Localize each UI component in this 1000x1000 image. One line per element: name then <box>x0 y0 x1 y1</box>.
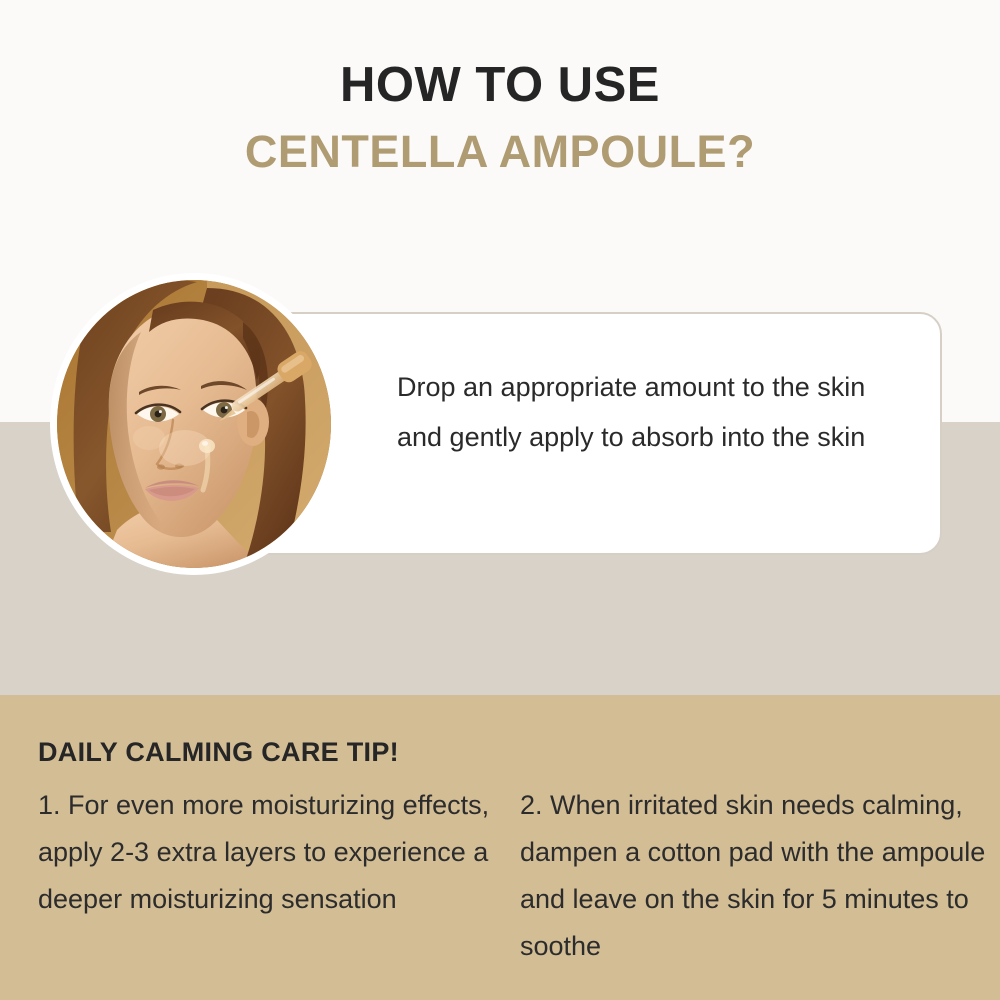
infographic-page: HOW TO USE CENTELLA AMPOULE? Drop an app… <box>0 0 1000 1000</box>
page-title-line-1: HOW TO USE <box>0 56 1000 114</box>
page-title: HOW TO USE CENTELLA AMPOULE? <box>0 56 1000 179</box>
model-photo <box>50 273 338 575</box>
page-title-line-2: CENTELLA AMPOULE? <box>0 125 1000 179</box>
tip-item-1: 1. For even more moisturizing effects, a… <box>38 782 500 923</box>
instruction-text: Drop an appropriate amount to the skin a… <box>397 362 907 462</box>
photo-image <box>57 280 331 568</box>
tips-heading: DAILY CALMING CARE TIP! <box>38 736 399 768</box>
tip-item-2: 2. When irritated skin needs calming, da… <box>520 782 990 970</box>
